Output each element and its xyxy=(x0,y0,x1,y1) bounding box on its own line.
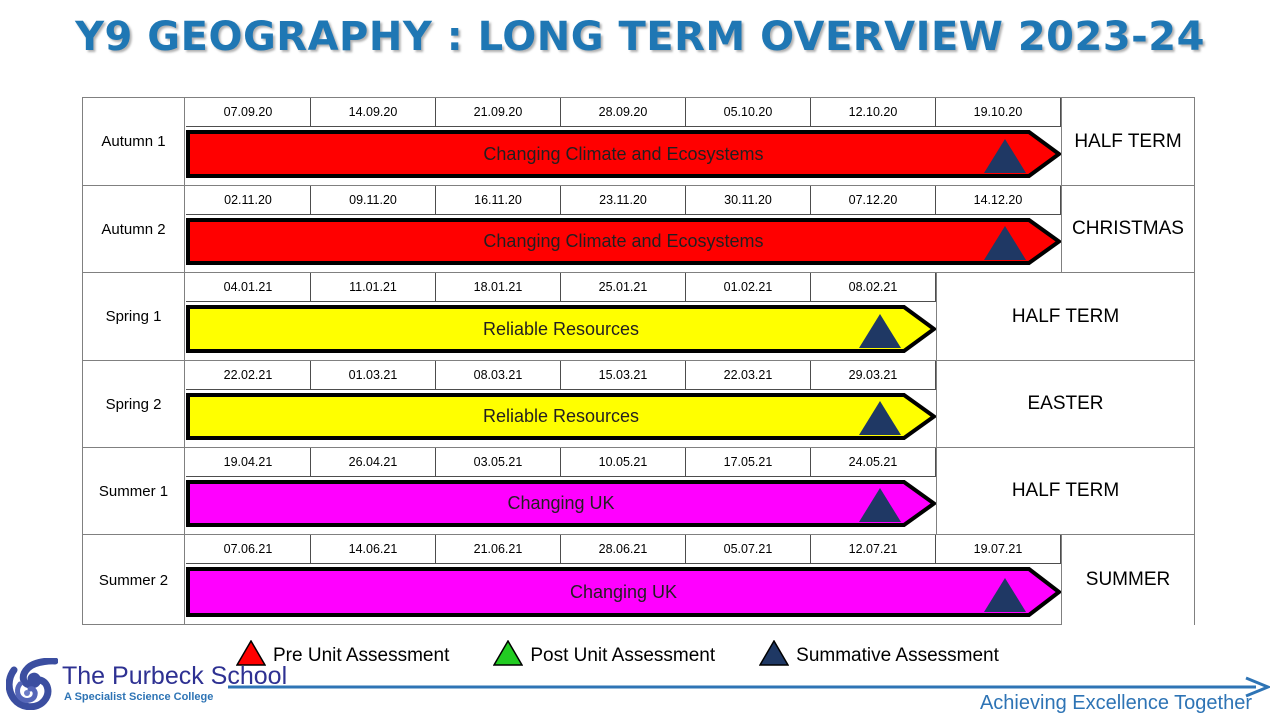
week-date-cell: 01.02.21 xyxy=(686,273,811,302)
week-date-cell: 25.01.21 xyxy=(561,273,686,302)
week-date-header: 02.11.2009.11.2016.11.2023.11.2030.11.20… xyxy=(186,186,1061,215)
week-date-cell: 14.12.20 xyxy=(936,186,1061,215)
week-date-header: 19.04.2126.04.2103.05.2110.05.2117.05.21… xyxy=(186,448,936,477)
footer: The Purbeck School A Specialist Science … xyxy=(0,652,1280,720)
week-date-cell: 29.03.21 xyxy=(811,361,936,390)
unit-arrow-bar: Reliable Resources xyxy=(186,393,936,440)
week-date-cell: 22.03.21 xyxy=(686,361,811,390)
week-date-header: 22.02.2101.03.2108.03.2115.03.2122.03.21… xyxy=(186,361,936,390)
unit-arrow-bar: Changing UK xyxy=(186,567,1061,617)
term-label: Autumn 2 xyxy=(83,186,185,272)
holiday-cell: HALF TERM xyxy=(936,448,1194,534)
holiday-cell: HALF TERM xyxy=(1061,98,1194,185)
week-date-cell: 11.01.21 xyxy=(311,273,436,302)
week-date-cell: 02.11.20 xyxy=(186,186,311,215)
week-date-cell: 12.10.20 xyxy=(811,98,936,127)
week-date-cell: 05.07.21 xyxy=(686,535,811,564)
week-date-header: 07.06.2114.06.2121.06.2128.06.2105.07.21… xyxy=(186,535,1061,564)
week-date-cell: 14.06.21 xyxy=(311,535,436,564)
table-row: Spring 104.01.2111.01.2118.01.2125.01.21… xyxy=(83,273,1194,361)
week-date-cell: 21.09.20 xyxy=(436,98,561,127)
week-date-cell: 24.05.21 xyxy=(811,448,936,477)
unit-arrow-bar: Changing UK xyxy=(186,480,936,527)
week-date-cell: 21.06.21 xyxy=(436,535,561,564)
week-date-cell: 22.02.21 xyxy=(186,361,311,390)
unit-arrow-shape xyxy=(188,220,1059,263)
unit-arrow-bar: Reliable Resources xyxy=(186,305,936,353)
footer-tagline: Achieving Excellence Together xyxy=(980,692,1252,715)
week-date-cell: 18.01.21 xyxy=(436,273,561,302)
unit-arrow-bar: Changing Climate and Ecosystems xyxy=(186,218,1061,265)
week-date-cell: 07.09.20 xyxy=(186,98,311,127)
school-logo-icon xyxy=(6,658,58,715)
long-term-overview-table: Autumn 107.09.2014.09.2021.09.2028.09.20… xyxy=(82,97,1195,625)
week-date-cell: 01.03.21 xyxy=(311,361,436,390)
unit-arrow-shape xyxy=(188,482,934,525)
term-label: Spring 1 xyxy=(83,273,185,360)
term-label: Summer 2 xyxy=(83,535,185,625)
week-date-cell: 07.12.20 xyxy=(811,186,936,215)
unit-arrow-shape xyxy=(188,307,934,351)
holiday-cell: HALF TERM xyxy=(936,273,1194,360)
week-date-cell: 23.11.20 xyxy=(561,186,686,215)
week-date-cell: 08.02.21 xyxy=(811,273,936,302)
week-date-cell: 15.03.21 xyxy=(561,361,686,390)
week-date-cell: 19.10.20 xyxy=(936,98,1061,127)
week-date-cell: 08.03.21 xyxy=(436,361,561,390)
week-date-cell: 12.07.21 xyxy=(811,535,936,564)
table-row: Autumn 202.11.2009.11.2016.11.2023.11.20… xyxy=(83,186,1194,273)
week-date-header: 04.01.2111.01.2118.01.2125.01.2101.02.21… xyxy=(186,273,936,302)
week-date-cell: 17.05.21 xyxy=(686,448,811,477)
term-label: Spring 2 xyxy=(83,361,185,447)
page-title: Y9 GEOGRAPHY : LONG TERM OVERVIEW 2023-2… xyxy=(0,14,1280,60)
week-date-cell: 09.11.20 xyxy=(311,186,436,215)
table-row: Summer 119.04.2126.04.2103.05.2110.05.21… xyxy=(83,448,1194,535)
week-date-cell: 10.05.21 xyxy=(561,448,686,477)
week-date-header: 07.09.2014.09.2021.09.2028.09.2005.10.20… xyxy=(186,98,1061,127)
holiday-cell: SUMMER xyxy=(1061,535,1194,625)
unit-arrow-bar: Changing Climate and Ecosystems xyxy=(186,130,1061,178)
table-row: Spring 222.02.2101.03.2108.03.2115.03.21… xyxy=(83,361,1194,448)
unit-arrow-shape xyxy=(188,569,1059,615)
week-date-cell: 30.11.20 xyxy=(686,186,811,215)
week-date-cell: 19.04.21 xyxy=(186,448,311,477)
week-date-cell: 04.01.21 xyxy=(186,273,311,302)
week-date-cell: 28.06.21 xyxy=(561,535,686,564)
unit-arrow-shape xyxy=(188,395,934,438)
week-date-cell: 28.09.20 xyxy=(561,98,686,127)
holiday-cell: EASTER xyxy=(936,361,1194,447)
term-label: Summer 1 xyxy=(83,448,185,534)
unit-arrow-shape xyxy=(188,132,1059,176)
table-row: Autumn 107.09.2014.09.2021.09.2028.09.20… xyxy=(83,98,1194,186)
week-date-cell: 26.04.21 xyxy=(311,448,436,477)
week-date-cell: 14.09.20 xyxy=(311,98,436,127)
week-date-cell: 19.07.21 xyxy=(936,535,1061,564)
holiday-cell: CHRISTMAS xyxy=(1061,186,1194,272)
school-subtitle: A Specialist Science College xyxy=(64,691,213,703)
term-label: Autumn 1 xyxy=(83,98,185,185)
week-date-cell: 07.06.21 xyxy=(186,535,311,564)
week-date-cell: 05.10.20 xyxy=(686,98,811,127)
week-date-cell: 16.11.20 xyxy=(436,186,561,215)
table-row: Summer 207.06.2114.06.2121.06.2128.06.21… xyxy=(83,535,1194,625)
week-date-cell: 03.05.21 xyxy=(436,448,561,477)
